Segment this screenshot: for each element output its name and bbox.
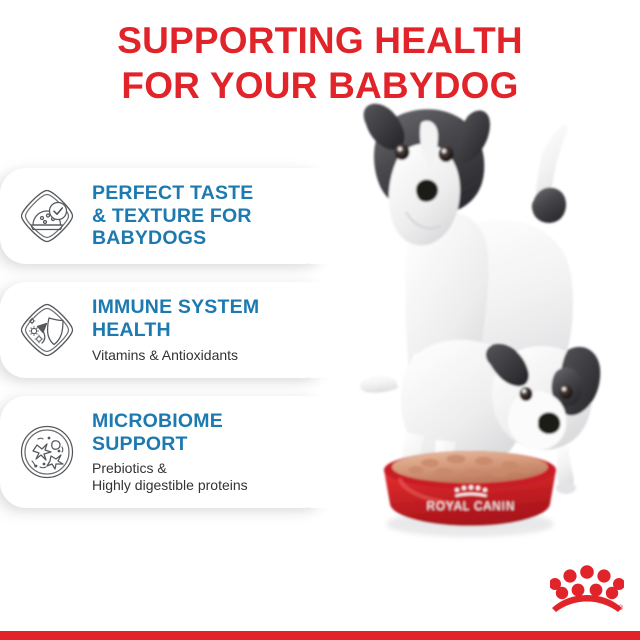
shield-germ-icon (16, 299, 78, 361)
benefit-text: PERFECT TASTE & TEXTURE FOR BABYDOGS (92, 182, 254, 250)
dog-eye-right (439, 146, 454, 162)
bowl-wordmark: ROYAL CANIN (427, 501, 516, 513)
royal-canin-crown-icon: ® (550, 560, 624, 616)
benefit-title: IMMUNE SYSTEM HEALTH (92, 296, 259, 341)
product-feature-panel: ROYAL CANIN SUPPORTING HEALTH FOR YOUR B… (0, 0, 640, 640)
benefits-list: PERFECT TASTE & TEXTURE FOR BABYDOGS (0, 168, 340, 526)
bowl-check-icon (16, 185, 78, 247)
benefit-text: IMMUNE SYSTEM HEALTH Vitamins & Antioxid… (92, 296, 259, 363)
benefit-title: PERFECT TASTE & TEXTURE FOR BABYDOGS (92, 182, 254, 250)
benefit-card-perfect-taste[interactable]: PERFECT TASTE & TEXTURE FOR BABYDOGS (0, 168, 330, 264)
dog-eye-left (395, 144, 410, 160)
benefit-card-immune-system[interactable]: IMMUNE SYSTEM HEALTH Vitamins & Antioxid… (0, 282, 330, 378)
benefit-subtitle: Vitamins & Antioxidants (92, 347, 259, 364)
registered-mark: ® (618, 604, 624, 612)
food-bowl: ROYAL CANIN (384, 451, 556, 537)
benefit-card-microbiome[interactable]: MICROBIOME SUPPORT Prebiotics & Highly d… (0, 396, 330, 508)
headline-line-1: SUPPORTING HEALTH (117, 20, 523, 61)
puppy-eye-right (560, 385, 573, 399)
benefit-title: MICROBIOME SUPPORT (92, 410, 248, 455)
benefit-subtitle: Prebiotics & Highly digestible proteins (92, 460, 248, 494)
crown-dots (550, 565, 624, 599)
bottom-accent-bar (0, 631, 640, 640)
benefit-text: MICROBIOME SUPPORT Prebiotics & Highly d… (92, 410, 248, 494)
puppy-nose (538, 412, 560, 434)
puppy-eye-left (520, 387, 533, 401)
microbiome-icon (16, 421, 78, 483)
